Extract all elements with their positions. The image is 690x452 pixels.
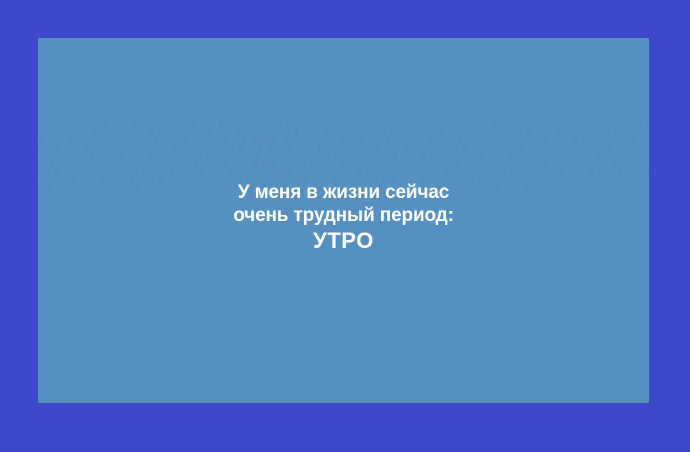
meme-card: У меня в жизни сейчас очень трудный пери… [38,38,649,403]
caption-line-1: У меня в жизни сейчас [38,181,649,204]
caption-line-3: УТРО [38,227,649,254]
caption-line-2: очень трудный период: [38,204,649,227]
caption-block: У меня в жизни сейчас очень трудный пери… [38,181,649,254]
meme-canvas: У меня в жизни сейчас очень трудный пери… [0,0,690,452]
